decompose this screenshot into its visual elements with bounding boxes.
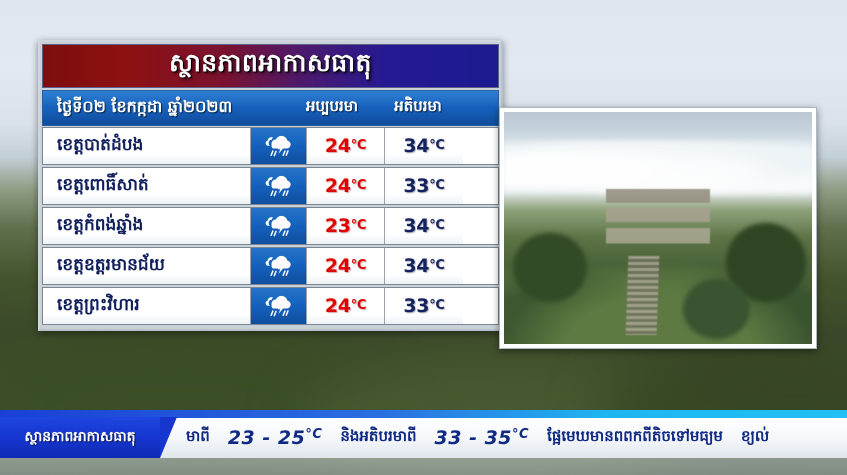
row-max-temp-value: 33 (403, 295, 429, 317)
thunderstorm-icon (261, 132, 297, 160)
thunderstorm-icon (261, 252, 297, 280)
row-max-temp: 33°C (385, 168, 463, 204)
row-max-temp-value: 34 (403, 215, 429, 237)
news-ticker: ស្ថានភាពអាកាសធាតុ មាពី 23 - 25°C និងអតិប… (0, 417, 847, 458)
thunderstorm-icon (261, 212, 297, 240)
row-min-temp-value: 24 (325, 295, 351, 317)
row-province-name: ខេត្តព្រះវិហារ (43, 288, 251, 324)
row-weather-icon (251, 248, 307, 284)
degree-unit-icon: °C (429, 178, 444, 193)
degree-unit-icon: °C (429, 258, 444, 273)
row-min-temp: 24°C (307, 128, 385, 164)
ticker-segment-1: មាពី (186, 427, 210, 449)
ticker-range-min-value: 23 - 25 (228, 427, 306, 449)
broadcast-stage: ស្ថានភាពអាកាសធាតុ ថ្ងៃទី០២ ខែកក្កដា ឆ្នា… (0, 0, 847, 475)
row-max-temp: 34°C (385, 248, 463, 284)
ticker-bottom-bar (0, 458, 847, 475)
row-province-name: ខេត្តឧត្តរមានជ័យ (43, 248, 251, 284)
degree-unit-icon: °C (351, 178, 366, 193)
row-min-temp-value: 24 (325, 255, 351, 277)
row-max-temp: 34°C (385, 208, 463, 244)
table-row: ខេត្តព្រះវិហារ 24°C33°C (42, 287, 499, 325)
ticker-range-max: 33 - 35°C (435, 427, 530, 449)
degree-unit-icon: °C (351, 298, 366, 313)
feature-photo (504, 112, 812, 344)
table-header-row: ថ្ងៃទី០២ ខែកក្កដា ឆ្នាំ២០២៣ អប្បបរមា អតិ… (42, 90, 499, 126)
row-min-temp: 24°C (307, 288, 385, 324)
photo-temple-stairway (626, 256, 660, 335)
weather-table-body: ខេត្តបាត់ដំបង 24°C34°Cខេត្តពោធិ៍សាត់ 24°… (42, 127, 499, 325)
ticker-range-max-value: 33 - 35 (435, 427, 513, 449)
row-min-temp: 24°C (307, 168, 385, 204)
thunderstorm-icon (261, 292, 297, 320)
row-province-name: ខេត្តបាត់ដំបង (43, 128, 251, 164)
row-weather-icon (251, 208, 307, 244)
table-row: ខេត្តបាត់ដំបង 24°C34°C (42, 127, 499, 165)
ticker-segment-3: ផ្អែមេឃមានពពកពីតិចទៅមធ្យម (547, 427, 723, 449)
table-row: ខេត្តពោធិ៍សាត់ 24°C33°C (42, 167, 499, 205)
thunderstorm-icon (261, 172, 297, 200)
ticker-label: ស្ថានភាពអាកាសធាតុ (0, 417, 160, 458)
row-min-temp: 24°C (307, 248, 385, 284)
ticker-segment-4: ខ្យល់ (741, 427, 769, 449)
row-min-temp-value: 24 (325, 175, 351, 197)
ticker-segment-2: និងអតិបរមាពី (340, 427, 416, 449)
row-max-temp-value: 34 (403, 135, 429, 157)
degree-unit-icon: °C (351, 258, 366, 273)
ticker-content: មាពី 23 - 25°C និងអតិបរមាពី 33 - 35°C ផ្… (160, 417, 847, 458)
row-max-temp: 34°C (385, 128, 463, 164)
header-max-label: អតិបរមា (375, 97, 461, 119)
degree-unit-icon: °C (512, 427, 529, 442)
table-row: ខេត្តកំពង់ឆ្នាំង 23°C34°C (42, 207, 499, 245)
page-title: ស្ថានភាពអាកាសធាតុ (169, 48, 372, 84)
row-weather-icon (251, 288, 307, 324)
row-province-name: ខេត្តកំពង់ឆ្នាំង (43, 208, 251, 244)
row-min-temp: 23°C (307, 208, 385, 244)
degree-unit-icon: °C (305, 427, 322, 442)
row-weather-icon (251, 168, 307, 204)
degree-unit-icon: °C (351, 218, 366, 233)
row-min-temp-value: 23 (325, 215, 351, 237)
panel-frame: ស្ថានភាពអាកាសធាតុ ថ្ងៃទី០២ ខែកក្កដា ឆ្នា… (38, 40, 503, 331)
table-row: ខេត្តឧត្តរមានជ័យ 24°C34°C (42, 247, 499, 285)
row-max-temp-value: 33 (403, 175, 429, 197)
feature-photo-frame (499, 107, 817, 349)
panel-title-bar: ស្ថានភាពអាកាសធាតុ (42, 44, 499, 88)
row-min-temp-value: 24 (325, 135, 351, 157)
row-weather-icon (251, 128, 307, 164)
degree-unit-icon: °C (351, 138, 366, 153)
row-max-temp: 33°C (385, 288, 463, 324)
header-date: ថ្ងៃទី០២ ខែកក្កដា ឆ្នាំ២០២៣ (43, 96, 289, 120)
weather-panel: ស្ថានភាពអាកាសធាតុ ថ្ងៃទី០២ ខែកក្កដា ឆ្នា… (38, 40, 503, 331)
row-max-temp-value: 34 (403, 255, 429, 277)
degree-unit-icon: °C (429, 218, 444, 233)
ticker-label-text: ស្ថានភាពអាកាសធាតុ (24, 427, 135, 448)
degree-unit-icon: °C (429, 138, 444, 153)
degree-unit-icon: °C (429, 298, 444, 313)
ticker-range-min: 23 - 25°C (228, 427, 323, 449)
row-province-name: ខេត្តពោធិ៍សាត់ (43, 168, 251, 204)
photo-tree-cluster (513, 233, 587, 303)
header-min-label: អប្បបរមា (289, 97, 375, 119)
